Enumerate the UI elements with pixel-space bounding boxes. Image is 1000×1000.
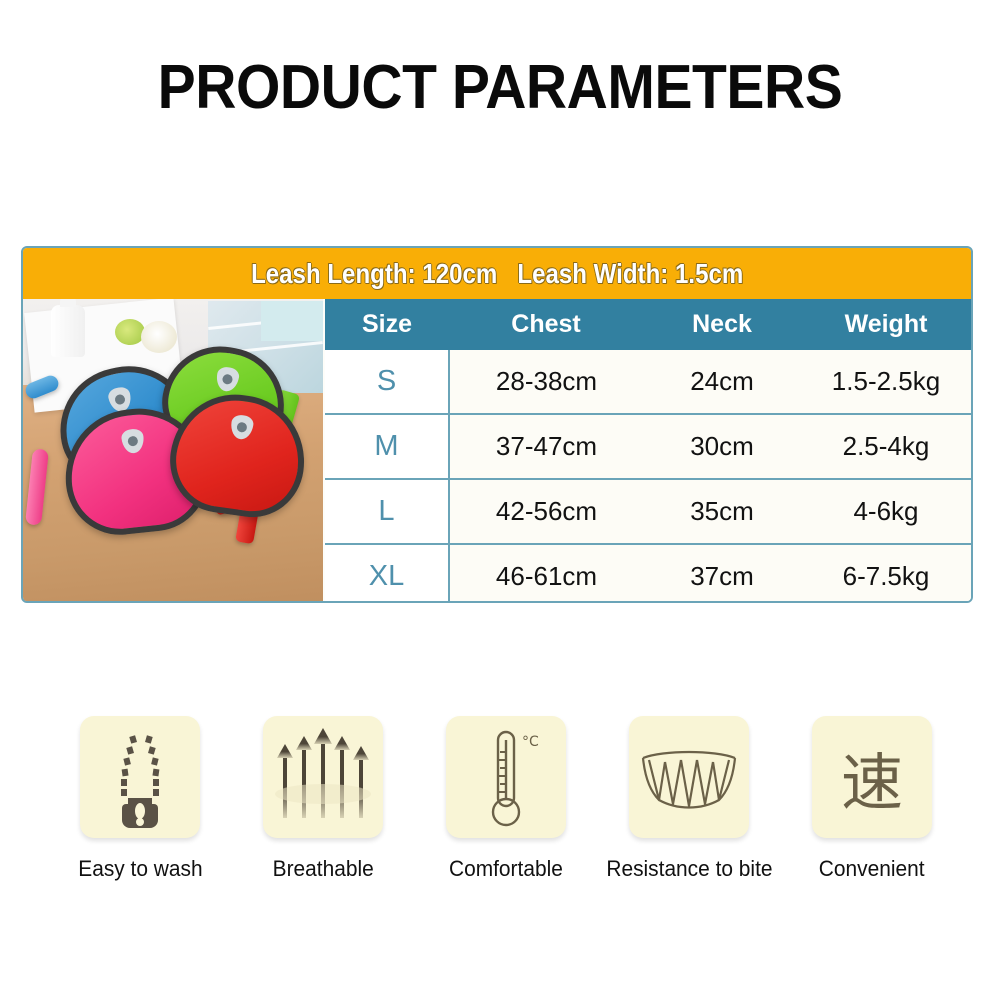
feature-list: Easy to wash	[56, 716, 956, 891]
column-header-weight: Weight	[801, 299, 971, 350]
cell-chest: 42-56cm	[449, 479, 643, 544]
table-row: M 37-47cm 30cm 2.5-4kg	[325, 414, 971, 479]
column-header-neck: Neck	[643, 299, 801, 350]
cell-size: S	[325, 350, 449, 414]
table-row: S 28-38cm 24cm 1.5-2.5kg	[325, 350, 971, 414]
feature-label: Convenient	[819, 856, 925, 882]
leash-info-text: Leash Length: 120cm Leash Width: 1.5cm	[251, 259, 743, 289]
cell-weight: 2.5-4kg	[801, 414, 971, 479]
page-title: PRODUCT PARAMETERS	[40, 52, 960, 124]
cell-chest: 46-61cm	[449, 544, 643, 603]
table-header-row: Size Chest Neck Weight	[325, 299, 971, 350]
cell-neck: 35cm	[643, 479, 801, 544]
cell-chest: 28-38cm	[449, 350, 643, 414]
up-arrows-icon	[263, 716, 383, 838]
cell-size: M	[325, 414, 449, 479]
zipper-icon	[80, 716, 200, 838]
table-row: L 42-56cm 35cm 4-6kg	[325, 479, 971, 544]
column-header-chest: Chest	[449, 299, 643, 350]
harness-badge-icon	[121, 428, 145, 454]
feature-label: Comfortable	[449, 856, 563, 882]
cell-weight: 1.5-2.5kg	[801, 350, 971, 414]
spec-table-block: Leash Length: 120cm Leash Width: 1.5cm S…	[21, 246, 973, 603]
leash-info-bar: Leash Length: 120cm Leash Width: 1.5cm	[23, 248, 971, 299]
cell-size: L	[325, 479, 449, 544]
product-photo	[23, 299, 323, 603]
cell-neck: 24cm	[643, 350, 801, 414]
feature-label: Breathable	[272, 856, 373, 882]
cell-chest: 37-47cm	[449, 414, 643, 479]
feature-item-resistance-to-bite: Resistance to bite	[605, 716, 773, 891]
table-row: XL 46-61cm 37cm 6-7.5kg	[325, 544, 971, 603]
photo-green-flower	[115, 319, 145, 345]
cell-neck: 37cm	[643, 544, 801, 603]
feature-item-convenient: 速 Convenient	[788, 716, 956, 891]
feature-item-easy-to-wash: Easy to wash	[56, 716, 224, 891]
feature-item-breathable: Breathable	[239, 716, 407, 891]
photo-poster	[261, 301, 323, 341]
feature-label: Resistance to bite	[606, 856, 772, 882]
column-header-size: Size	[325, 299, 449, 350]
temperature-unit-label: °C	[522, 734, 539, 750]
feature-label: Easy to wash	[78, 856, 202, 882]
cell-size: XL	[325, 544, 449, 603]
photo-white-bottle	[51, 305, 85, 357]
cell-weight: 6-7.5kg	[801, 544, 971, 603]
cell-neck: 30cm	[643, 414, 801, 479]
speed-character-glyph: 速	[812, 716, 932, 838]
size-chart-table: Size Chest Neck Weight S 28-38cm 24cm 1.…	[325, 299, 971, 603]
cell-weight: 4-6kg	[801, 479, 971, 544]
bite-resistance-icon	[629, 716, 749, 838]
harness-badge-icon	[215, 366, 241, 393]
speed-character-icon: 速	[812, 716, 932, 838]
thermometer-icon: °C	[446, 716, 566, 838]
harness-badge-icon	[229, 414, 254, 441]
feature-item-comfortable: °C Comfortable	[422, 716, 590, 891]
photo-white-flower	[141, 321, 177, 353]
